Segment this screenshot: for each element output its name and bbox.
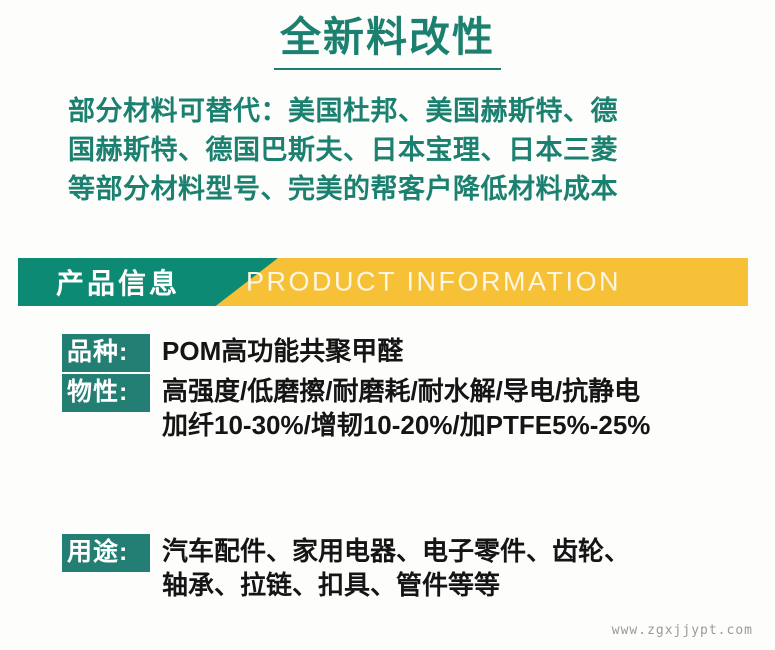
spec-label-properties: 物性:	[62, 374, 150, 412]
spec-value-properties-line-1: 高强度/低磨擦/耐磨耗/耐水解/导电/抗静电	[162, 374, 762, 408]
spec-row-properties: 物性: 高强度/低磨擦/耐磨耗/耐水解/导电/抗静电 加纤10-30%/增韧10…	[62, 374, 762, 443]
spec-value-properties-line-2: 加纤10-30%/增韧10-20%/加PTFE5%-25%	[162, 408, 762, 442]
site-watermark: www.zgxjjypt.com	[612, 623, 753, 638]
spec-label-usage: 用途:	[62, 534, 150, 572]
banner-title-cn: 产品信息	[56, 262, 180, 302]
page-title: 全新料改性	[274, 14, 501, 70]
intro-paragraph: 部分材料可替代：美国杜邦、美国赫斯特、德 国赫斯特、德国巴斯夫、日本宝理、日本三…	[68, 92, 715, 209]
spec-value-usage: 汽车配件、家用电器、电子零件、齿轮、 轴承、拉链、扣具、管件等等	[150, 534, 762, 603]
spec-value-variety-line-1: POM高功能共聚甲醛	[162, 334, 762, 368]
intro-line-3: 等部分材料型号、完美的帮客户降低材料成本	[68, 170, 715, 209]
spec-list: 品种: POM高功能共聚甲醛 物性: 高强度/低磨擦/耐磨耗/耐水解/导电/抗静…	[62, 334, 762, 443]
spec-row-variety: 品种: POM高功能共聚甲醛	[62, 334, 762, 372]
intro-line-2: 国赫斯特、德国巴斯夫、日本宝理、日本三菱	[68, 131, 715, 170]
product-information-banner: 产品信息 PRODUCT INFORMATION	[18, 258, 748, 306]
headline-section: 全新料改性	[0, 0, 775, 70]
banner-title-en: PRODUCT INFORMATION	[246, 267, 621, 298]
spec-label-variety: 品种:	[62, 334, 150, 372]
spec-value-properties: 高强度/低磨擦/耐磨耗/耐水解/导电/抗静电 加纤10-30%/增韧10-20%…	[150, 374, 762, 443]
spec-value-usage-line-2: 轴承、拉链、扣具、管件等等	[162, 568, 762, 602]
spec-row-usage: 用途: 汽车配件、家用电器、电子零件、齿轮、 轴承、拉链、扣具、管件等等	[62, 534, 762, 603]
spec-value-usage-line-1: 汽车配件、家用电器、电子零件、齿轮、	[162, 534, 762, 568]
spec-value-variety: POM高功能共聚甲醛	[150, 334, 762, 368]
intro-line-1: 部分材料可替代：美国杜邦、美国赫斯特、德	[68, 92, 715, 131]
